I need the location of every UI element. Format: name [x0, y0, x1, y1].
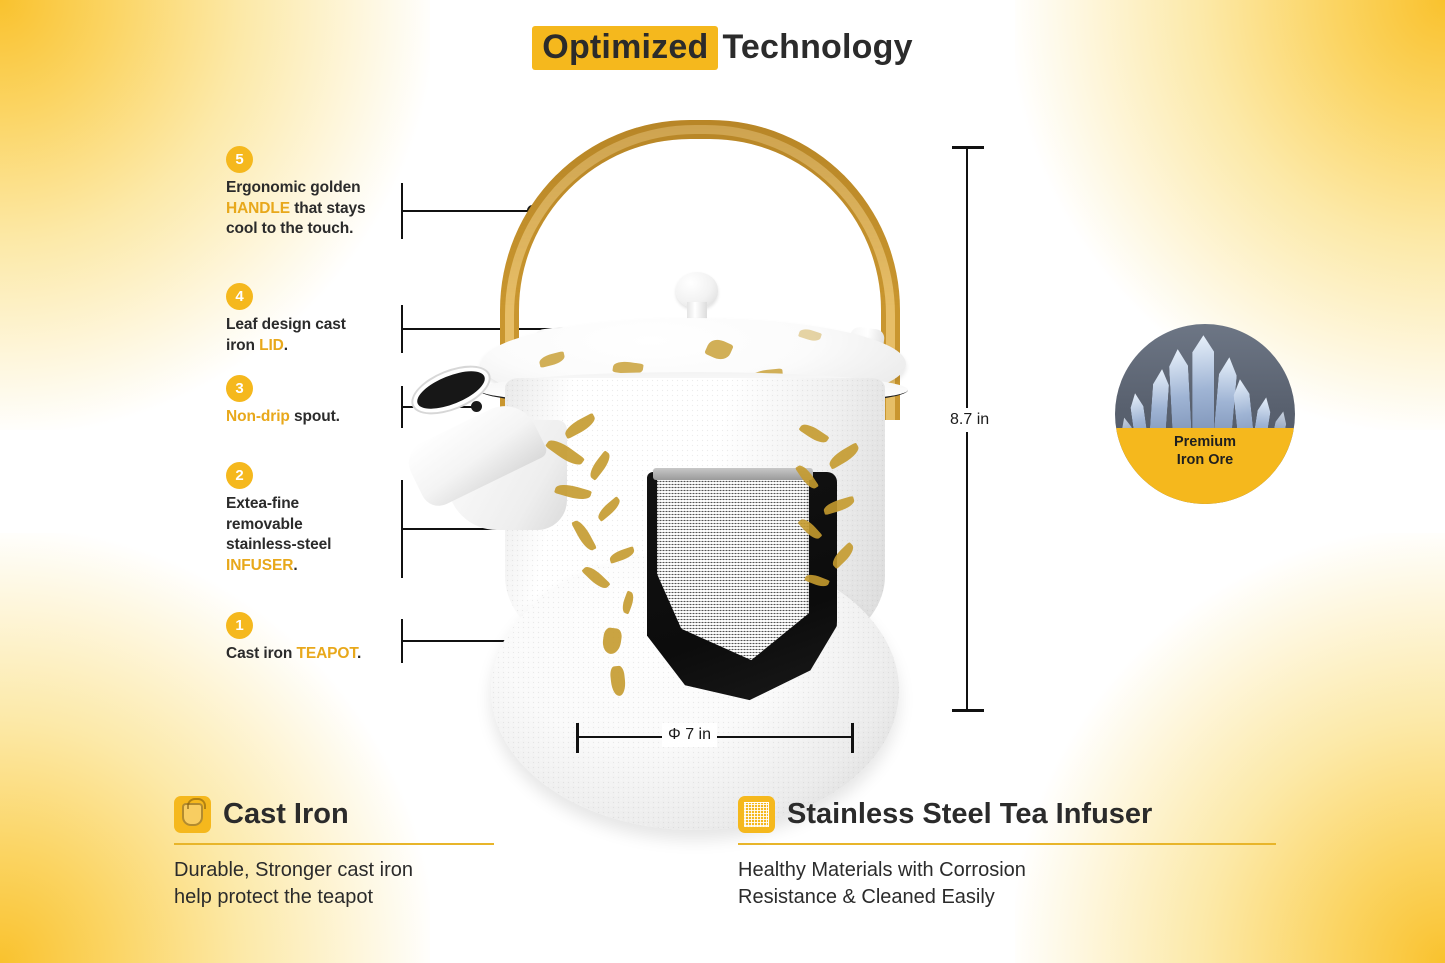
annotation-badge-4: 4	[226, 283, 253, 310]
annotation-text-1: Cast iron TEAPOT.	[226, 644, 421, 665]
ore-badge-line1: Premium	[1174, 434, 1236, 451]
width-dimension-label: Φ 7 in	[662, 723, 717, 747]
feature-description: Durable, Stronger cast iron help protect…	[174, 857, 494, 911]
annotation-4: 4 Leaf design cast iron LID.	[226, 283, 421, 356]
premium-iron-ore-badge: Premium Iron Ore	[1115, 324, 1295, 504]
annotation-2: 2 Extea-fine removable stainless-steel I…	[226, 462, 421, 576]
feature-divider	[738, 843, 1276, 845]
annotation-5: 5 Ergonomic golden HANDLE that stays coo…	[226, 146, 421, 240]
feature-cast-iron: Cast Iron Durable, Stronger cast iron he…	[174, 796, 494, 911]
feature-stainless-steel-infuser: Stainless Steel Tea Infuser Healthy Mate…	[738, 796, 1276, 911]
mesh-grid-icon	[738, 796, 775, 833]
annotation-badge-5: 5	[226, 146, 253, 173]
non-drip-spout-opening	[412, 364, 489, 417]
annotation-badge-1: 1	[226, 612, 253, 639]
title-highlight: Optimized	[532, 26, 718, 70]
annotation-badge-2: 2	[226, 462, 253, 489]
ore-badge-line2: Iron Ore	[1177, 452, 1233, 469]
annotation-3: 3 Non-drip spout.	[226, 375, 421, 428]
infuser-rim-band	[653, 468, 813, 480]
feature-desc-line-1: Durable, Stronger cast iron	[174, 857, 494, 884]
feature-title: Cast Iron	[223, 798, 349, 831]
annotation-badge-3: 3	[226, 375, 253, 402]
ore-badge-banner: Premium Iron Ore	[1115, 428, 1295, 504]
annotation-text-3: Non-drip spout.	[226, 407, 421, 428]
feature-description: Healthy Materials with Corrosion Resista…	[738, 857, 1276, 911]
feature-desc-line-2: Resistance & Cleaned Easily	[738, 884, 1276, 911]
mesh-glyph	[744, 802, 769, 827]
annotation-text-2: Extea-fine removable stainless-steel INF…	[226, 494, 421, 576]
page-title: OptimizedTechnology	[0, 28, 1445, 67]
feature-header: Cast Iron	[174, 796, 494, 833]
annotation-1: 1 Cast iron TEAPOT.	[226, 612, 421, 665]
lid-leaf	[798, 327, 822, 343]
lid-leaf	[704, 336, 734, 363]
height-dimension-label: 8.7 in	[944, 408, 995, 432]
annotation-text-5: Ergonomic golden HANDLE that stays cool …	[226, 178, 421, 240]
feature-title: Stainless Steel Tea Infuser	[787, 798, 1152, 831]
feature-divider	[174, 843, 494, 845]
feature-header: Stainless Steel Tea Infuser	[738, 796, 1276, 833]
annotation-text-4: Leaf design cast iron LID.	[226, 315, 421, 356]
cast-iron-teapot-icon	[174, 796, 211, 833]
teapot-glyph	[182, 803, 203, 826]
feature-desc-line-1: Healthy Materials with Corrosion	[738, 857, 1276, 884]
teapot-product-image	[395, 120, 955, 745]
title-rest: Technology	[722, 28, 912, 66]
feature-desc-line-2: help protect the teapot	[174, 884, 494, 911]
lid-leaf	[538, 351, 566, 368]
